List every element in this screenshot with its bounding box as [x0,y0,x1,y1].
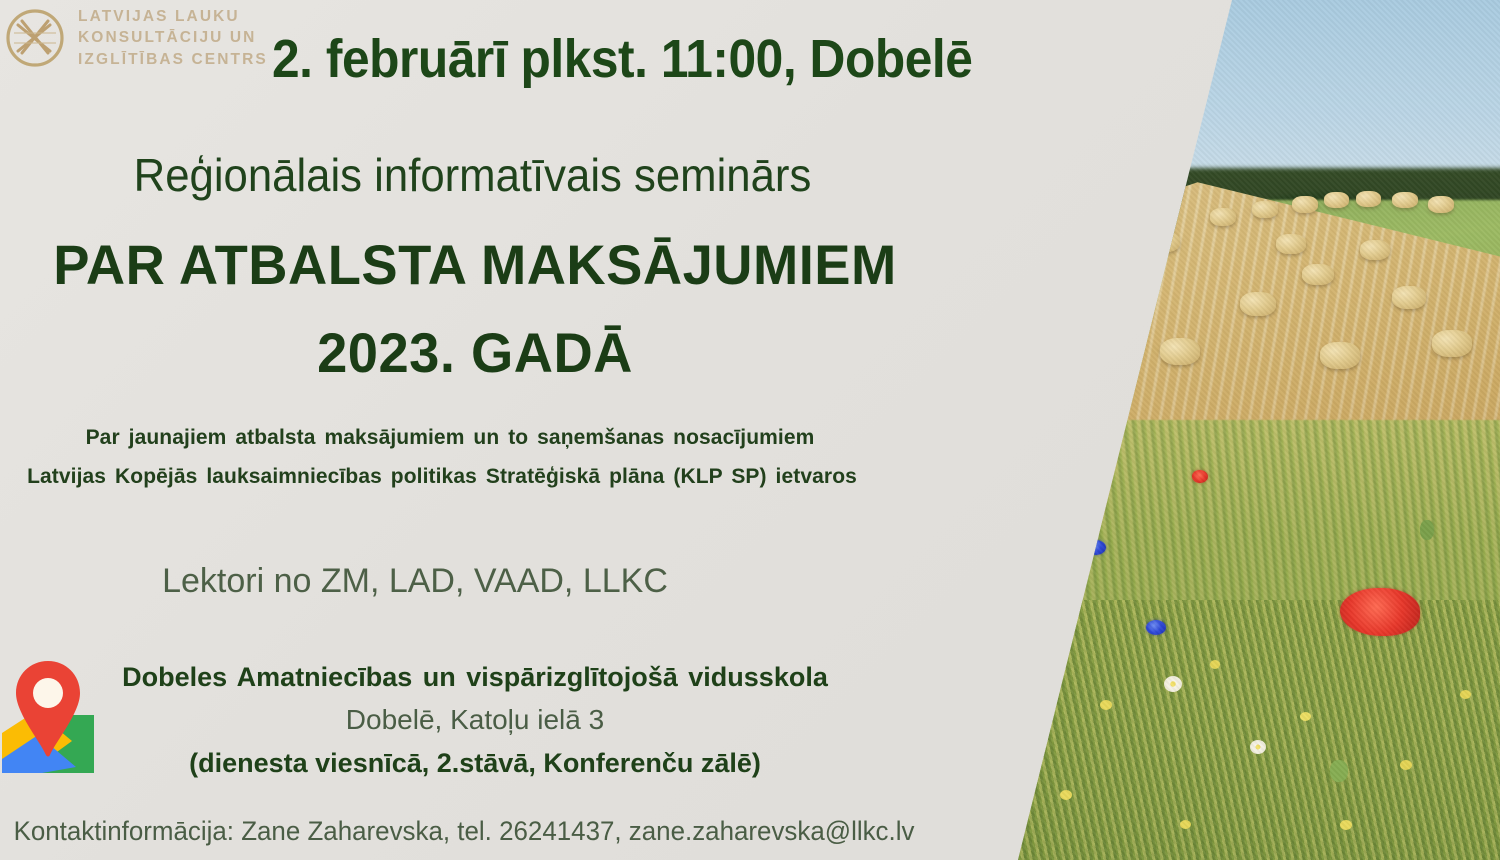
yellow-speck [1300,712,1311,721]
cornflower [830,566,882,604]
hay-bale [1276,234,1306,254]
daisy-flower [1008,660,1030,680]
hay-bale [1150,232,1180,252]
logo-line-2: KONSULTĀCIJU UN [78,27,268,48]
contact-info: Kontaktinformācija: Zane Zaharevska, tel… [3,816,925,847]
green-leaf-speck [1330,760,1348,782]
hay-bale [1292,196,1318,213]
cornflower [894,572,924,594]
lecturers-line: Lektori no ZM, LAD, VAAD, LLKC [0,562,830,601]
hay-bale [1252,201,1278,218]
cornflower [1044,490,1062,504]
logo-line-3: IZGLĪTĪBAS CENTRS [78,49,268,70]
cornflower [1012,566,1042,588]
hay-bale [1392,286,1426,309]
venue-address: Dobelē, Katoļu ielā 3 [80,704,870,736]
hay-bale [1356,191,1381,207]
seminar-subtitle: Reģionālais informatīvais seminārs [24,148,922,202]
cornflower [1072,432,1094,450]
hay-bale [1046,318,1086,345]
hay-bale [1324,192,1349,208]
hay-bale [1160,338,1200,365]
cornflower [1146,620,1166,635]
hay-bale [1360,240,1390,260]
poppy-flower [1000,368,1030,394]
hay-bale [1432,330,1472,357]
poster-canvas: LATVIJAS LAUKU KONSULTĀCIJU UN IZGLĪTĪBA… [0,0,1500,860]
daisy-flower [930,450,952,470]
cornflower [970,596,994,614]
hay-bale [1302,264,1334,285]
hay-bale [1110,268,1144,291]
venue-name: Dobeles Amatniecības un vispārizglītojoš… [80,662,870,693]
yellow-speck [1400,760,1412,770]
cornflower [902,642,930,662]
page-title-line-2: 2023. GADĀ [14,320,936,385]
poppy-flower [1340,588,1420,636]
yellow-speck [1460,690,1471,699]
poppy-flower [978,400,1018,430]
llkc-emblem-icon [4,7,66,69]
venue-room: (dienesta viesnīcā, 2.stāvā, Konferenču … [80,748,870,779]
cornflower [952,470,986,496]
hay-bale [1004,372,1050,403]
page-title-line-1: PAR ATBALSTA MAKSĀJUMIEM [14,232,936,297]
cornflower [1086,540,1106,555]
logo-wordmark: LATVIJAS LAUKU KONSULTĀCIJU UN IZGLĪTĪBA… [78,6,268,70]
hay-bale [1210,208,1236,226]
daisy-flower [938,490,958,508]
cornflower [906,704,940,728]
hay-bale [1320,342,1360,369]
logo-line-1: LATVIJAS LAUKU [78,6,268,27]
green-leaf-speck [1420,520,1434,540]
yellow-speck [1060,790,1072,800]
poppy-flower [1192,470,1208,483]
hay-bale [1428,196,1454,213]
description-line-1: Par jaunajiem atbalsta maksājumiem un to… [0,426,900,450]
daisy-flower [1250,740,1266,754]
hay-bale [1240,292,1276,316]
cornflower [876,530,938,572]
cornflower [1030,446,1076,478]
yellow-speck [1100,700,1112,710]
cornflower [840,624,884,656]
hay-bale [1392,192,1418,208]
daisy-flower [1164,676,1182,692]
yellow-speck [1180,820,1191,829]
yellow-speck [1340,820,1352,830]
description-line-2: Latvijas Kopējās lauksaimniecības politi… [0,465,902,489]
event-date-time: 2. februārī plkst. 11:00, Dobelē [272,28,972,90]
yellow-speck [1210,660,1220,669]
llkc-logo[interactable]: LATVIJAS LAUKU KONSULTĀCIJU UN IZGLĪTĪBA… [4,6,268,70]
